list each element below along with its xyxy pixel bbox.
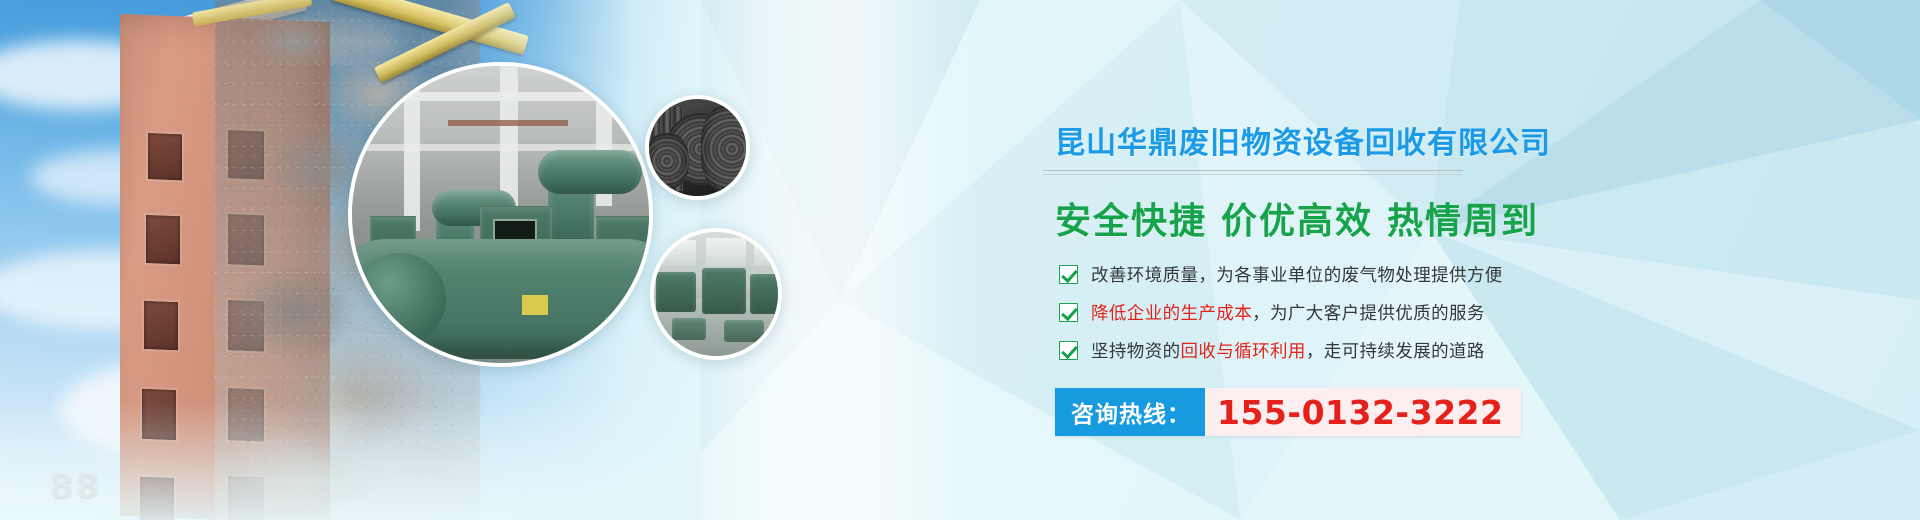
slogan-part-3: 热情周到 bbox=[1387, 200, 1539, 241]
chiller-drum-end bbox=[354, 253, 446, 345]
chiller-photo bbox=[348, 62, 653, 367]
feature-item: 坚持物资的回收与循环利用，走可持续发展的道路 bbox=[1059, 331, 1619, 369]
steel-coil-roll bbox=[701, 105, 750, 193]
steel-coil-photo bbox=[645, 95, 750, 200]
factory-column bbox=[404, 66, 420, 231]
warning-label bbox=[522, 295, 548, 315]
workshop-machine bbox=[702, 268, 746, 314]
feature-list: 改善环境质量，为各事业单位的废气物处理提供方便 降低企业的生产成本，为广大客户提… bbox=[1059, 255, 1619, 369]
promo-banner: 88 bbox=[0, 0, 1920, 520]
hotline-label: 咨询热线： bbox=[1055, 388, 1205, 436]
factory-pipe-rail bbox=[448, 120, 568, 126]
feature-text: 改善环境质量，为各事业单位的废气物处理提供方便 bbox=[1091, 262, 1503, 287]
slogan: 安全快捷价优高效热情周到 bbox=[1055, 192, 1539, 244]
workshop-scene bbox=[654, 232, 778, 356]
banner-content: 昆山华鼎废旧物资设备回收有限公司 安全快捷价优高效热情周到 改善环境质量，为各事… bbox=[1055, 0, 1655, 520]
check-icon bbox=[1059, 303, 1078, 322]
feature-text-before: 坚持物资的 bbox=[1091, 341, 1181, 361]
workshop-photo bbox=[650, 228, 782, 360]
workshop-machine bbox=[750, 274, 782, 314]
building-window bbox=[148, 133, 182, 180]
workshop-window bbox=[754, 242, 782, 266]
title-divider bbox=[1043, 170, 1463, 175]
feature-text-after: ，为广大客户提供优质的服务 bbox=[1252, 303, 1485, 323]
feature-text-after: ，走可持续发展的道路 bbox=[1306, 341, 1485, 361]
site-watermark: 88 bbox=[50, 466, 101, 506]
company-name: 昆山华鼎废旧物资设备回收有限公司 bbox=[1055, 118, 1551, 162]
chiller-pipe bbox=[538, 150, 642, 194]
building-window bbox=[144, 301, 178, 350]
hotline-bar[interactable]: 咨询热线： 155-0132-3222 bbox=[1055, 388, 1521, 436]
feature-text-before: 改善环境质量，为各事业单位的废气物处理提供方便 bbox=[1091, 265, 1503, 285]
steel-coil-scene bbox=[649, 99, 746, 196]
feature-text-highlight: 降低企业的生产成本 bbox=[1091, 303, 1252, 323]
hotline-number[interactable]: 155-0132-3222 bbox=[1205, 388, 1521, 436]
workshop-machine bbox=[672, 318, 706, 340]
check-icon bbox=[1059, 341, 1078, 360]
chiller-photo-scene bbox=[352, 66, 649, 363]
check-icon bbox=[1059, 265, 1078, 284]
slogan-part-2: 价优高效 bbox=[1221, 200, 1373, 241]
workshop-window bbox=[660, 240, 696, 266]
slogan-part-1: 安全快捷 bbox=[1055, 200, 1207, 241]
feature-item: 改善环境质量，为各事业单位的废气物处理提供方便 bbox=[1059, 255, 1619, 293]
building-window bbox=[146, 215, 180, 264]
feature-text-highlight: 回收与循环利用 bbox=[1181, 341, 1306, 361]
feature-text: 坚持物资的回收与循环利用，走可持续发展的道路 bbox=[1091, 338, 1485, 363]
feature-item: 降低企业的生产成本，为广大客户提供优质的服务 bbox=[1059, 293, 1619, 331]
steel-coil-roll bbox=[645, 133, 689, 189]
workshop-window bbox=[706, 238, 746, 266]
workshop-machine bbox=[656, 272, 696, 312]
feature-text: 降低企业的生产成本，为广大客户提供优质的服务 bbox=[1091, 300, 1485, 325]
workshop-machine bbox=[724, 320, 764, 342]
